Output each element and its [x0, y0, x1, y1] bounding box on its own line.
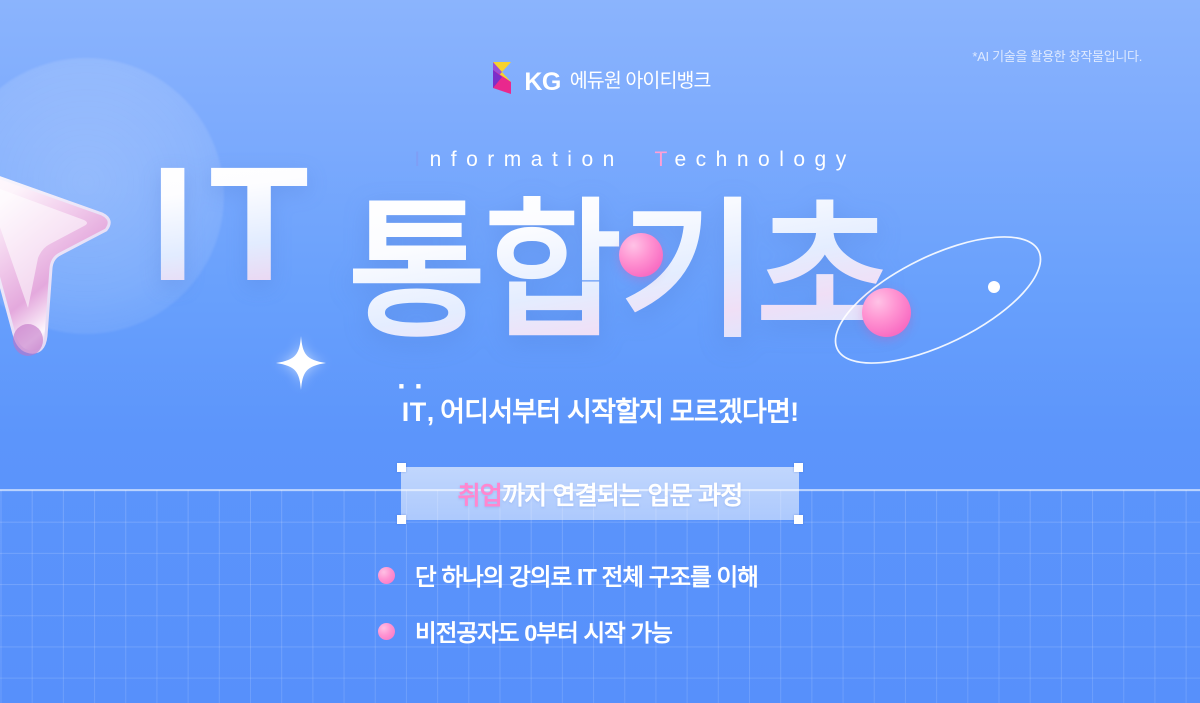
selection-handle-bottom-left[interactable] [397, 515, 406, 524]
orbit-ring-icon [818, 225, 1058, 375]
bullet-text: 단 하나의 강의로 IT 전체 구조를 이해 [415, 558, 758, 592]
bullet-dot-icon [378, 623, 395, 640]
bullet-dot-icon [378, 567, 395, 584]
kg-flag-logo-icon [489, 60, 515, 94]
highlight-box-fill: 취업까지 연결되는 입문 과정 [401, 467, 799, 520]
highlight-rest-part: 까지 연결되는 입문 과정 [502, 482, 742, 510]
highlight-pink-part: 취업 [458, 482, 502, 510]
hero-it-text: IT [150, 142, 323, 305]
bullet-text: 비전공자도 0부터 시작 가능 [415, 614, 672, 648]
highlight-selection-box: 취업까지 연결되는 입문 과정 [401, 467, 799, 520]
sub-headline-rest: , 어디서부터 시작할지 모르겠다면! [427, 397, 799, 427]
brand-lockup: KG 에듀원 아이티뱅크 [0, 60, 1200, 94]
sub-headline: IT, 어디서부터 시작할지 모르겠다면! [0, 390, 1200, 429]
promo-banner: KG 에듀원 아이티뱅크 *AI 기술을 활용한 창작물입니다. Informa… [0, 0, 1200, 703]
hero-korean-text: 통합기초 [348, 196, 892, 346]
highlight-text: 취업까지 연결되는 입문 과정 [458, 476, 743, 512]
selection-handle-top-right[interactable] [794, 463, 803, 472]
brand-kg-text: KG [524, 70, 560, 95]
list-item: 비전공자도 0부터 시작 가능 [378, 614, 758, 648]
pink-sphere-icon [862, 288, 911, 337]
list-item: 단 하나의 강의로 IT 전체 구조를 이해 [378, 558, 758, 592]
ai-disclaimer-note: *AI 기술을 활용한 창작물입니다. [972, 46, 1142, 65]
feature-bullet-list: 단 하나의 강의로 IT 전체 구조를 이해 비전공자도 0부터 시작 가능 [378, 558, 758, 648]
brand-name-text: 에듀원 아이티뱅크 [570, 72, 711, 92]
pink-sphere-icon [619, 233, 663, 277]
selection-handle-top-left[interactable] [397, 463, 406, 472]
sub-headline-emphasis: IT [402, 397, 427, 428]
selection-handle-bottom-right[interactable] [794, 515, 803, 524]
